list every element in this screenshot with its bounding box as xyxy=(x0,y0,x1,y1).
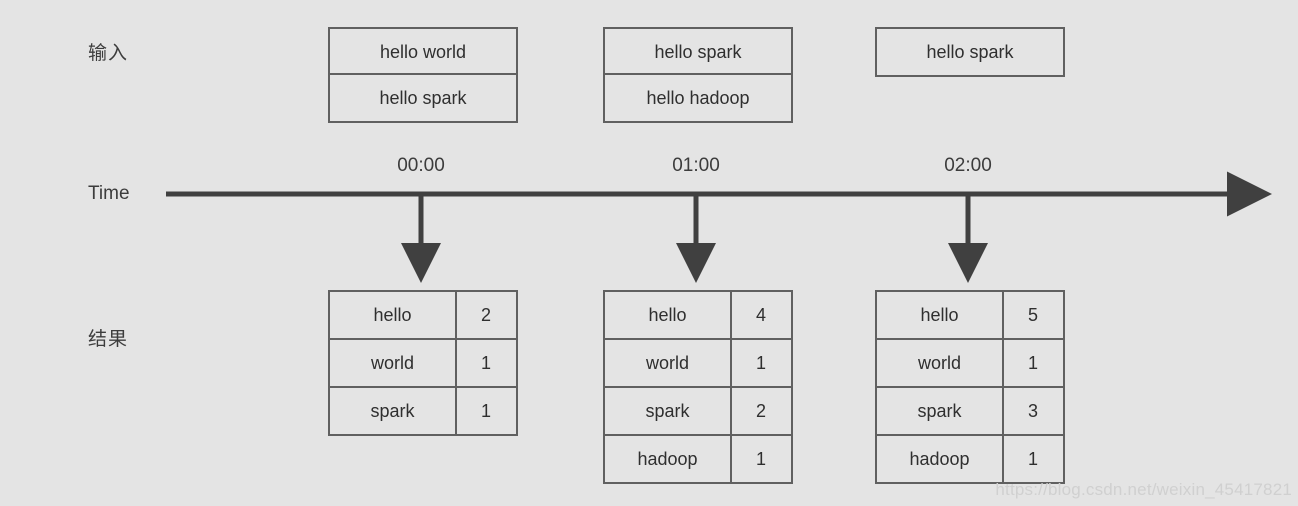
input-box-1: hello spark hello hadoop xyxy=(603,27,793,123)
timeline-tick-label-2: 02:00 xyxy=(944,155,992,177)
table-row: hello 5 xyxy=(877,292,1063,340)
input-line-text: hello world xyxy=(330,29,516,75)
input-line-text: hello spark xyxy=(877,29,1063,75)
result-count: 5 xyxy=(1004,292,1062,338)
table-row: hadoop 1 xyxy=(605,436,791,482)
table-row: hadoop 1 xyxy=(877,436,1063,482)
diagram-canvas: 输入 Time 结果 hello world hello spark hello… xyxy=(0,0,1298,506)
timeline-tick-label-0: 00:00 xyxy=(397,155,445,177)
table-row: hello 2 xyxy=(330,292,516,340)
table-row: world 1 xyxy=(877,340,1063,388)
result-count: 3 xyxy=(1004,388,1062,434)
result-word: hello xyxy=(605,292,732,338)
table-row: spark 1 xyxy=(330,388,516,434)
input-line: hello world xyxy=(330,29,516,75)
input-box-0: hello world hello spark xyxy=(328,27,518,123)
result-word: hello xyxy=(330,292,457,338)
result-count: 1 xyxy=(1004,340,1062,386)
result-word: spark xyxy=(605,388,732,434)
result-count: 2 xyxy=(457,292,515,338)
input-line: hello spark xyxy=(605,29,791,75)
table-row: spark 3 xyxy=(877,388,1063,436)
input-line-text: hello spark xyxy=(605,29,791,75)
result-table-2: hello 5 world 1 spark 3 hadoop 1 xyxy=(875,290,1065,484)
input-line: hello spark xyxy=(877,29,1063,75)
result-count: 1 xyxy=(732,340,790,386)
result-count: 4 xyxy=(732,292,790,338)
input-box-2: hello spark xyxy=(875,27,1065,77)
time-row-label: Time xyxy=(88,183,130,205)
result-word: spark xyxy=(877,388,1004,434)
input-line: hello hadoop xyxy=(605,75,791,121)
result-word: world xyxy=(877,340,1004,386)
result-count: 2 xyxy=(732,388,790,434)
input-line-text: hello spark xyxy=(330,75,516,121)
result-count: 1 xyxy=(1004,436,1062,482)
timeline-tick-label-1: 01:00 xyxy=(672,155,720,177)
input-line: hello spark xyxy=(330,75,516,121)
input-row-label: 输入 xyxy=(88,38,128,65)
result-count: 1 xyxy=(457,388,515,434)
result-table-1: hello 4 world 1 spark 2 hadoop 1 xyxy=(603,290,793,484)
result-count: 1 xyxy=(732,436,790,482)
result-word: hadoop xyxy=(877,436,1004,482)
table-row: world 1 xyxy=(330,340,516,388)
result-word: world xyxy=(330,340,457,386)
result-count: 1 xyxy=(457,340,515,386)
table-row: hello 4 xyxy=(605,292,791,340)
result-word: hello xyxy=(877,292,1004,338)
table-row: spark 2 xyxy=(605,388,791,436)
result-table-0: hello 2 world 1 spark 1 xyxy=(328,290,518,436)
result-word: world xyxy=(605,340,732,386)
result-word: spark xyxy=(330,388,457,434)
watermark-text: https://blog.csdn.net/weixin_45417821 xyxy=(995,480,1292,500)
result-word: hadoop xyxy=(605,436,732,482)
table-row: world 1 xyxy=(605,340,791,388)
input-line-text: hello hadoop xyxy=(605,75,791,121)
result-row-label: 结果 xyxy=(88,324,128,351)
